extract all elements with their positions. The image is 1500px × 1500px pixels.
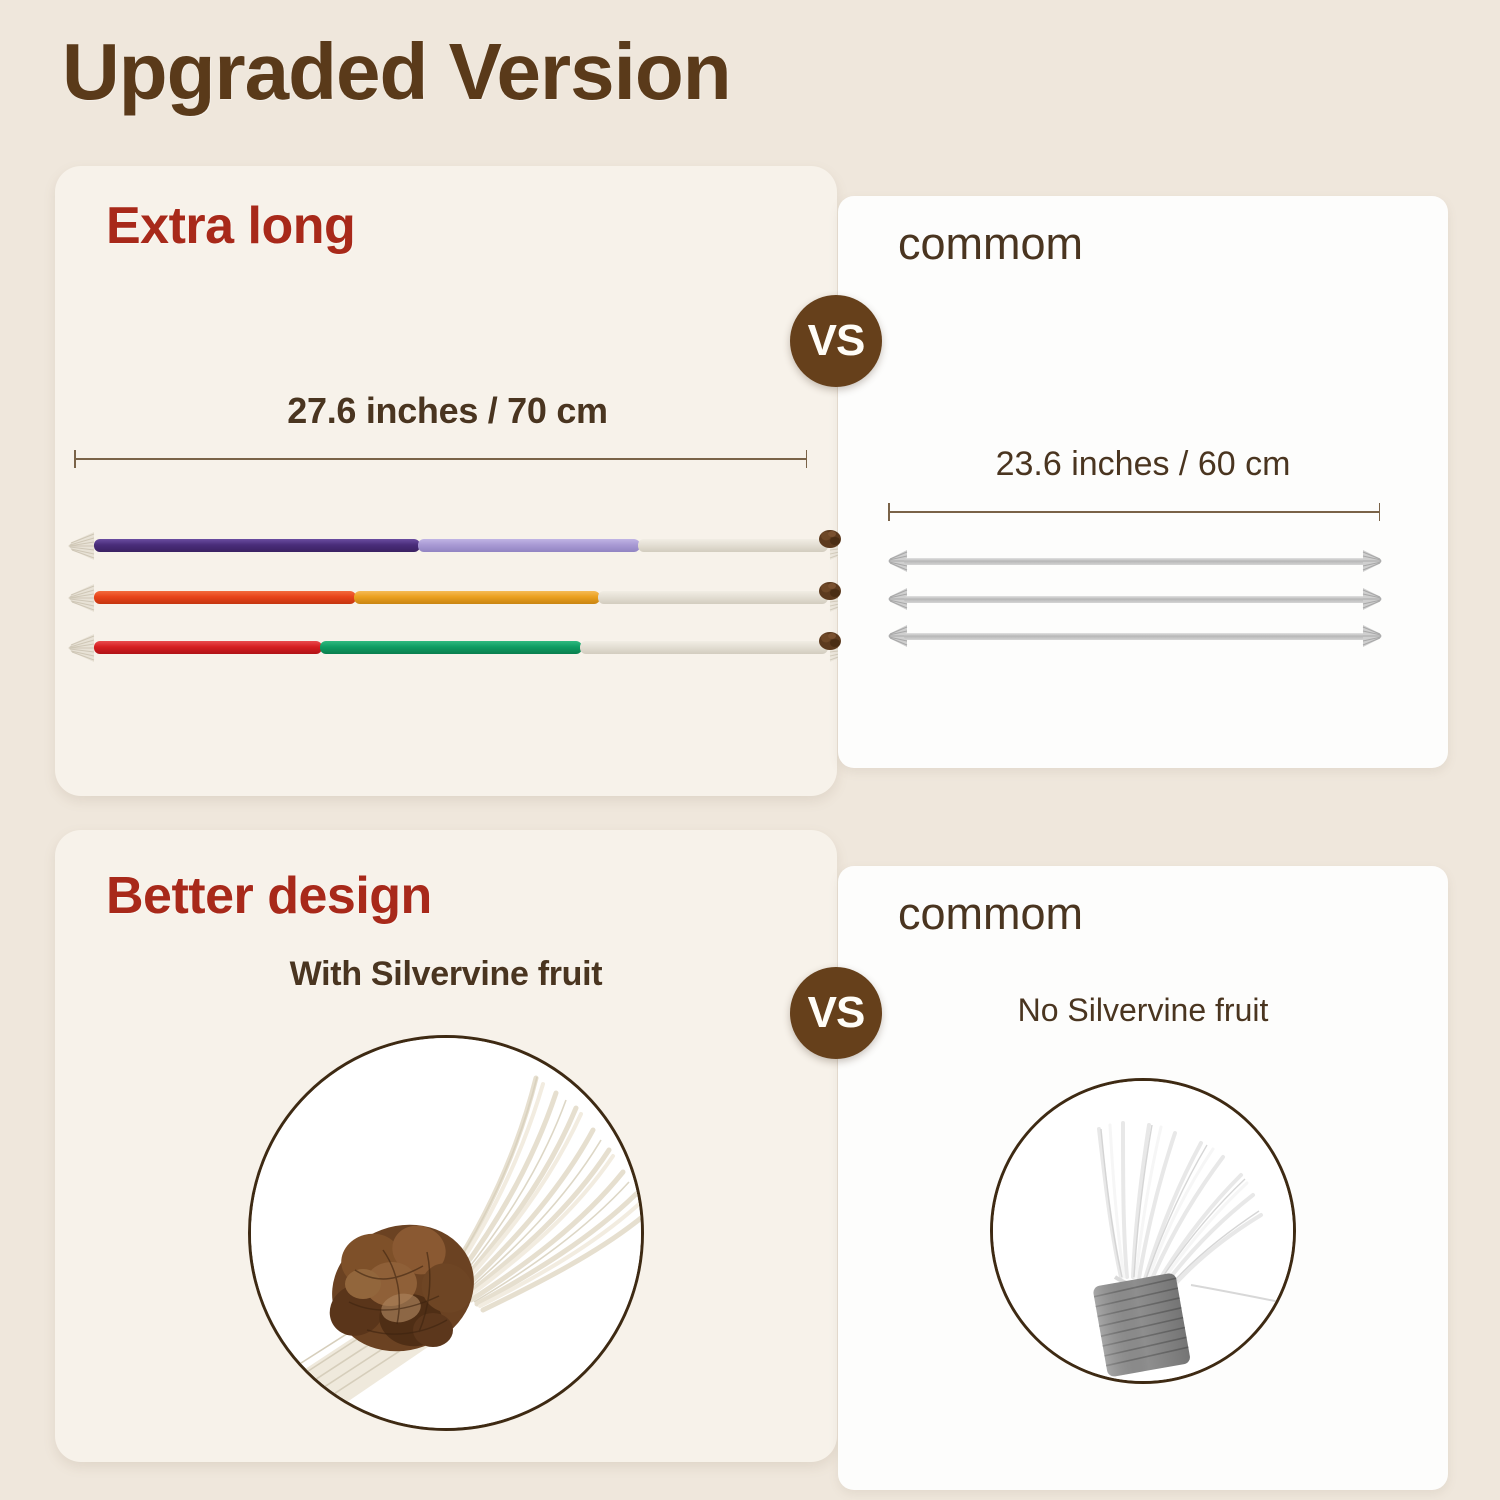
rope-segment (94, 641, 322, 654)
dimension-cap-right (806, 450, 808, 468)
heading-better-design: Better design (106, 866, 432, 926)
silvervine-fruit-icon (818, 526, 845, 550)
caption-with-silvervine: With Silvervine fruit (55, 955, 837, 994)
rope-gray (884, 551, 1384, 571)
rope-gray (884, 626, 1384, 646)
rope-segment (904, 558, 1366, 565)
rope-red-green (64, 636, 804, 658)
card-extra-long (55, 166, 837, 796)
heading-commom-design: commom (898, 888, 1083, 940)
silvervine-fruit-icon (818, 628, 845, 652)
tassel-right-icon (1360, 616, 1386, 656)
rope-segment (904, 596, 1366, 603)
measurement-ours: 27.6 inches / 70 cm (0, 390, 895, 432)
dimension-bar (888, 511, 1380, 513)
dimension-cap-right (1379, 503, 1381, 521)
rope-segment (94, 591, 356, 604)
vs-badge-bottom: VS (790, 967, 882, 1059)
tassel-left-icon (64, 578, 98, 618)
silvervine-fruit-icon (818, 578, 845, 602)
rope-purple (64, 534, 804, 556)
dimension-line-ours (74, 450, 807, 468)
dimension-cap-left (888, 503, 890, 521)
dimension-line-theirs (888, 503, 1380, 521)
dimension-cap-left (74, 450, 76, 468)
page-title: Upgraded Version (62, 30, 731, 114)
vs-badge-top: VS (790, 295, 882, 387)
rope-gray (884, 589, 1384, 609)
tassel-right-icon (1360, 579, 1386, 619)
rope-segment (904, 633, 1366, 640)
heading-extra-long: Extra long (106, 196, 355, 256)
infographic-canvas: Upgraded Version Extra long 27.6 inches … (0, 0, 1500, 1500)
dimension-bar (74, 458, 807, 460)
caption-no-silvervine: No Silvervine fruit (838, 992, 1448, 1029)
photo-no-silvervine-fruit (990, 1078, 1296, 1384)
tassel-left-icon (64, 628, 98, 668)
rope-segment (580, 641, 828, 654)
measurement-theirs: 23.6 inches / 60 cm (838, 445, 1448, 484)
rope-segment (94, 539, 420, 552)
rope-segment (638, 539, 828, 552)
rope-orange (64, 586, 804, 608)
heading-commom-length: commom (898, 218, 1083, 270)
rope-segment (320, 641, 582, 654)
tassel-left-icon (64, 526, 98, 566)
rope-segment (598, 591, 828, 604)
tassel-right-icon (1360, 541, 1386, 581)
rope-segment (418, 539, 640, 552)
rope-segment (354, 591, 600, 604)
photo-with-silvervine-fruit (248, 1035, 644, 1431)
